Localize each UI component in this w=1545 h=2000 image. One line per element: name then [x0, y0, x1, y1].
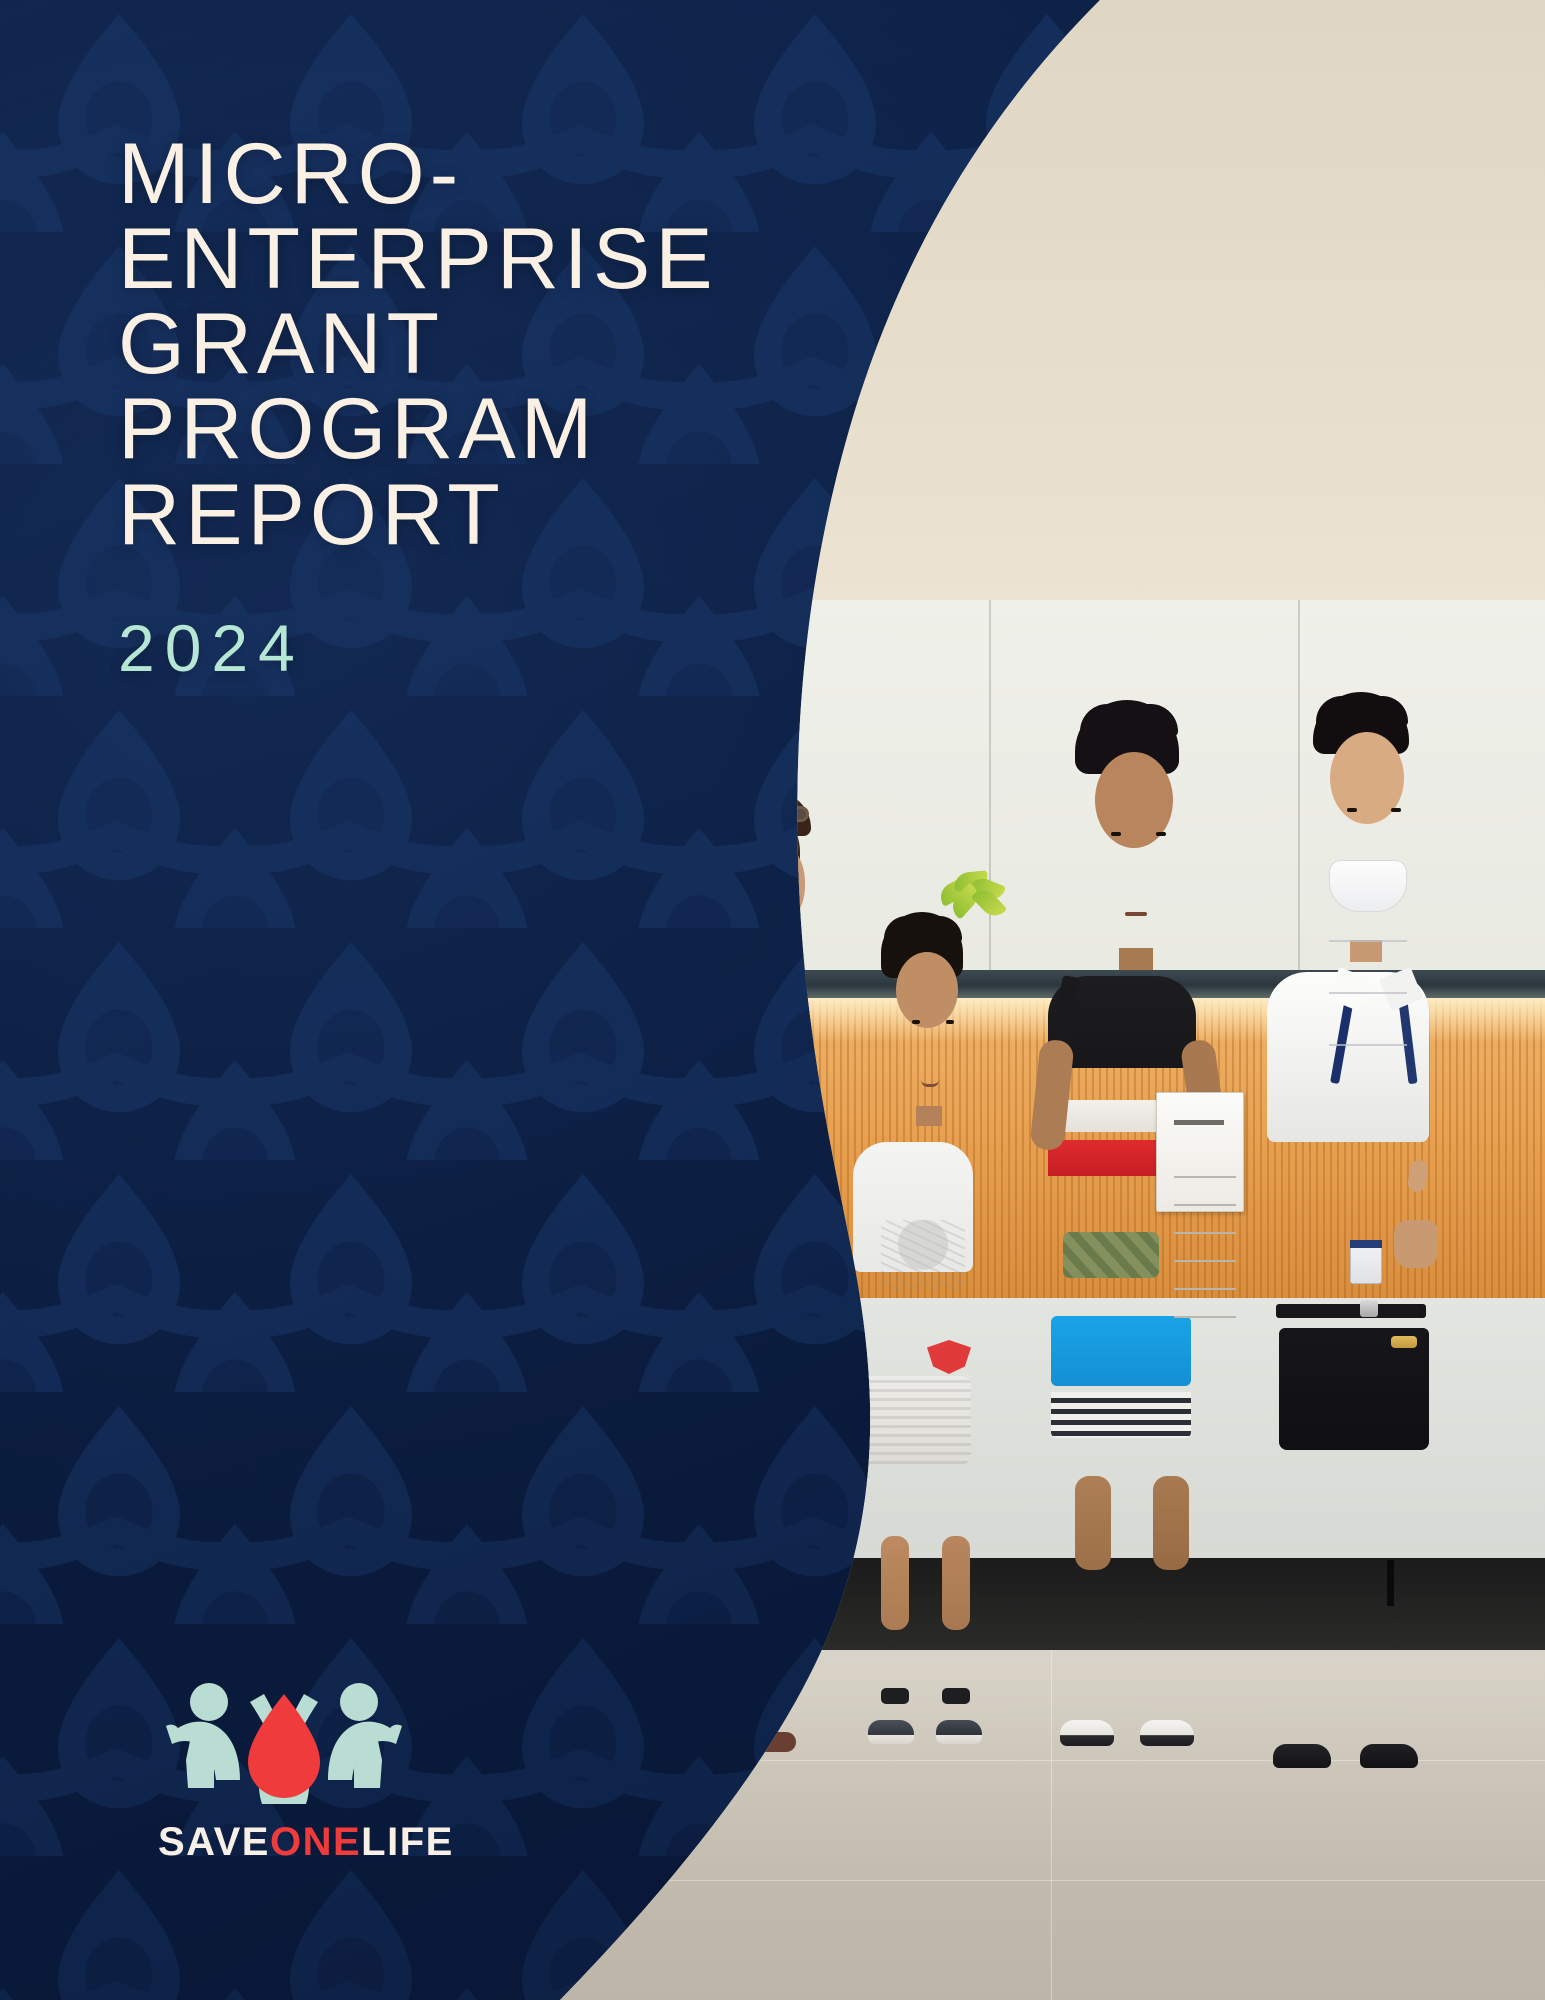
- photo-boy-leg: [942, 1536, 970, 1630]
- logo-word-save: SAVE: [158, 1820, 270, 1864]
- photo-staff-belt-buckle: [1360, 1300, 1378, 1317]
- title-block: MICRO- ENTERPRISE GRANT PROGRAM REPORT 2…: [118, 132, 758, 686]
- logo-word-one: ONE: [270, 1820, 361, 1864]
- photo-boy-sock: [881, 1688, 909, 1704]
- photo-father-mouth: [1125, 912, 1147, 916]
- logo-word-life: LIFE: [361, 1820, 454, 1864]
- photo-father-eye: [1156, 832, 1166, 836]
- photo-father-neck: [1119, 948, 1153, 970]
- logo-wordmark: SAVEONELIFE: [158, 1822, 410, 1862]
- photo-father-waist-pouch: [1063, 1232, 1159, 1278]
- photo-father-leg: [1153, 1476, 1189, 1570]
- photo-boy-leg: [881, 1536, 909, 1630]
- photo-staff-eye: [1347, 808, 1357, 812]
- photo-father-sneaker: [1060, 1720, 1114, 1746]
- page-title: MICRO- ENTERPRISE GRANT PROGRAM REPORT: [118, 132, 758, 558]
- photo-father-fringe: [1080, 704, 1178, 736]
- photo-boy-neck: [916, 1106, 942, 1126]
- photo-staff-hand: [1394, 1220, 1438, 1268]
- report-year: 2024: [118, 610, 758, 686]
- photo-staff-shoe: [1273, 1744, 1331, 1768]
- photo-staff-neck: [1350, 940, 1382, 962]
- photo-staff-eye: [1391, 808, 1401, 812]
- photo-floor-line: [1051, 1650, 1052, 2000]
- photo-staff-face-mask: [1329, 860, 1407, 912]
- photo-boy-shirt-graphic: [881, 1220, 965, 1290]
- photo-staff-shoe: [1360, 1744, 1418, 1768]
- photo-boy-sneaker: [868, 1720, 914, 1744]
- photo-boy-shorts: [859, 1376, 971, 1464]
- photo-boy-face: [896, 952, 958, 1028]
- photo-boy-sneaker: [936, 1720, 982, 1744]
- photo-father-shorts-stripes: [1051, 1392, 1191, 1438]
- photo-staff-leg-gap: [1387, 1560, 1394, 1606]
- photo-staff-watch: [1391, 1336, 1417, 1348]
- photo-wall-seam: [1298, 600, 1300, 970]
- photo-staff-belt: [1276, 1304, 1426, 1318]
- photo-staff-fringe: [1316, 696, 1408, 726]
- photo-boy-sock: [942, 1688, 970, 1704]
- photo-father-sneaker: [1140, 1720, 1194, 1746]
- save-one-life-mark-icon: [158, 1676, 410, 1808]
- report-cover-page: MICRO- ENTERPRISE GRANT PROGRAM REPORT 2…: [0, 0, 1545, 2000]
- photo-boy-fringe: [884, 916, 962, 942]
- photo-boy-eye: [946, 1020, 954, 1024]
- photo-grant-document: [1156, 1092, 1244, 1212]
- photo-father-eye: [1111, 832, 1121, 836]
- photo-boy-eye: [912, 1020, 920, 1024]
- photo-staff-id-badge-header: [1350, 1240, 1382, 1248]
- photo-father-leg: [1075, 1476, 1111, 1570]
- photo-plant: [936, 868, 1010, 912]
- photo-document-header: [1174, 1120, 1224, 1125]
- photo-father-shorts: [1051, 1316, 1191, 1386]
- organization-logo: SAVEONELIFE: [158, 1676, 410, 1862]
